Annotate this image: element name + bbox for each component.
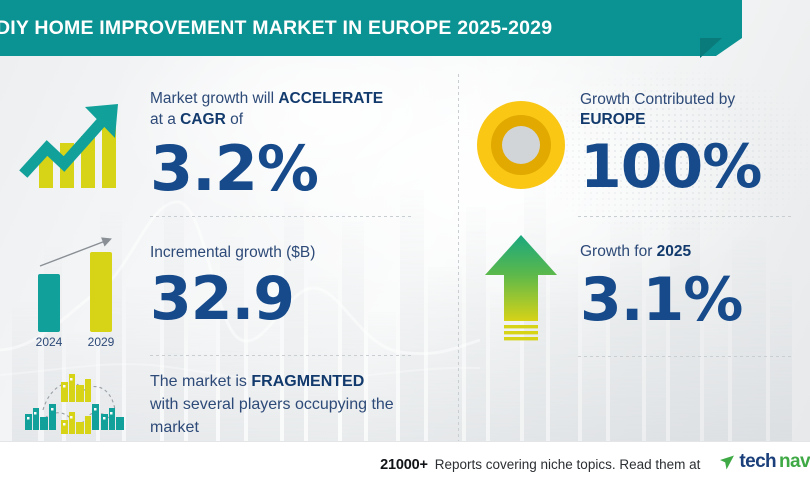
cagr-label-accelerate: ACCELERATE [278, 90, 383, 107]
up-arrow-icon [462, 224, 580, 350]
fragmentation-text: The market is FRAGMENTED with several pl… [150, 370, 440, 439]
fragmentation-block: The market is FRAGMENTED with several pl… [0, 362, 440, 446]
europe-contribution-label: Growth Contributed byEUROPE [580, 90, 808, 130]
technavio-logo[interactable]: technav [719, 451, 810, 473]
cagr-label-line2-plain-b: of [226, 111, 243, 128]
column-divider [458, 74, 459, 442]
growth-bar-arrow-icon [0, 82, 150, 210]
footer-text: Reports covering niche topics. Read them… [435, 457, 701, 472]
infographic-canvas: DIY HOME IMPROVEMENT MARKET IN EUROPE 20… [0, 0, 810, 480]
right-divider-1 [578, 216, 792, 217]
cagr-label-line1-plain: Market growth will [150, 90, 278, 107]
svg-text:2024: 2024 [36, 335, 63, 349]
europe-contribution-region: EUROPE [580, 111, 645, 128]
cagr-label-line2-plain-a: at a [150, 111, 180, 128]
left-divider-1 [150, 216, 412, 217]
cagr-value: 3.2% [150, 134, 440, 204]
europe-contribution-label-plain: Growth Contributed by [580, 91, 735, 108]
footer-content: 21000+ Reports covering niche topics. Re… [380, 449, 810, 473]
header-banner-fold [700, 38, 722, 58]
footer-bar: 21000+ Reports covering niche topics. Re… [0, 441, 810, 480]
growth-2025-label: Growth for 2025 [580, 241, 808, 262]
growth-2025-value: 3.1% [580, 266, 808, 334]
incremental-growth-block: 2024 2029 Incremental growth ($B) 32.9 [0, 224, 440, 350]
technavio-logo-tech: tech [739, 451, 776, 473]
left-divider-2 [150, 355, 412, 356]
two-bar-chart-icon: 2024 2029 [0, 224, 150, 350]
europe-contribution-value: 100% [580, 133, 808, 201]
growth-2025-block: Growth for 2025 3.1% [462, 224, 810, 350]
connected-cities-icon [0, 362, 150, 446]
europe-contribution-block: Growth Contributed byEUROPE 100% [462, 80, 810, 210]
growth-2025-label-plain: Growth for [580, 243, 657, 260]
fragmentation-line1-plain: The market is [150, 373, 251, 390]
growth-2025-year: 2025 [657, 243, 691, 260]
fragmentation-line2: with several players occupying the [150, 396, 394, 413]
donut-chart-icon [462, 80, 580, 210]
incremental-growth-value: 32.9 [150, 265, 440, 333]
header-banner: DIY HOME IMPROVEMENT MARKET IN EUROPE 20… [0, 0, 742, 56]
cagr-label: Market growth will ACCELERATE at a CAGR … [150, 88, 440, 130]
cagr-label-cagr: CAGR [180, 111, 226, 128]
report-count: 21000+ [380, 457, 428, 473]
technavio-logo-nav: nav [779, 451, 810, 473]
page-title: DIY HOME IMPROVEMENT MARKET IN EUROPE 20… [0, 17, 552, 40]
incremental-growth-label: Incremental growth ($B) [150, 242, 440, 263]
technavio-mark-icon [719, 454, 736, 471]
cagr-block: Market growth will ACCELERATE at a CAGR … [0, 82, 440, 210]
right-divider-2 [578, 356, 792, 357]
svg-text:2029: 2029 [88, 335, 115, 349]
fragmentation-fragmented: FRAGMENTED [251, 373, 364, 390]
fragmentation-line3: market [150, 419, 199, 436]
